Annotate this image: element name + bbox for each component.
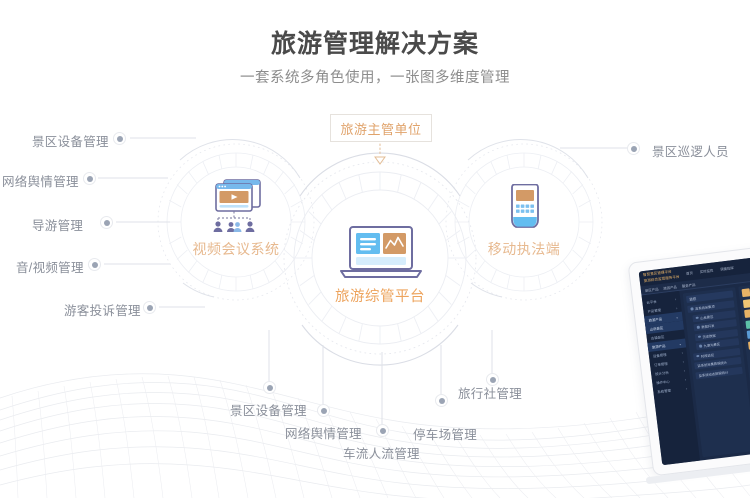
bottom-label-4: 旅行社管理 [458, 383, 522, 402]
bottom-dot-0[interactable] [263, 381, 276, 394]
bullet-icon [696, 316, 699, 319]
authority-box[interactable]: 旅游主管单位 [330, 114, 432, 142]
dashboard-filter-1[interactable]: 旅游产品 [663, 284, 677, 291]
left-dot-1[interactable] [83, 172, 96, 185]
chevron-icon: › [686, 386, 688, 390]
chevron-icon: ⌄ [679, 341, 682, 345]
left-dot-2[interactable] [100, 216, 113, 229]
bullet-icon [698, 335, 701, 338]
dashboard-tile-row-1 [743, 297, 750, 308]
tile-icon[interactable] [744, 309, 750, 318]
bottom-label-1: 网络舆情管理 [285, 423, 362, 442]
bottom-label-3: 停车场管理 [413, 424, 477, 443]
right-label-0: 景区巡逻人员 [652, 141, 729, 160]
left-label-1: 网络舆情管理 [2, 171, 79, 190]
bottom-label-2: 车流人流管理 [343, 443, 420, 462]
left-label-0: 景区设备管理 [32, 131, 109, 150]
bottom-dot-2[interactable] [376, 424, 389, 437]
handheld-device-icon [503, 184, 547, 236]
video-conference-icon [206, 178, 266, 234]
dashboard-tile-row-3 [745, 318, 750, 329]
dashboard-screen: 智慧景区管理平台 旅游综合监管服务平台 首页 实时监控 调度指挥 景区产品 旅游… [639, 256, 750, 465]
chevron-icon: › [685, 377, 687, 381]
solution-diagram-page: 旅游管理解决方案 一套系统多角色使用，一张图多维度管理 [0, 0, 750, 498]
left-dot-3[interactable] [88, 258, 101, 271]
tile-icon[interactable] [742, 288, 750, 297]
page-title: 旅游管理解决方案 [0, 24, 750, 60]
bullet-icon [696, 355, 699, 358]
dashboard-nav-0[interactable]: 首页 [686, 270, 693, 276]
tile-icon[interactable] [745, 320, 750, 329]
left-dot-4[interactable] [143, 301, 156, 314]
tile-icon[interactable] [743, 299, 750, 308]
tile-icon[interactable] [747, 330, 750, 339]
right-dot-0[interactable] [627, 142, 640, 155]
authority-arrow [375, 144, 385, 164]
left-label-2: 导游管理 [32, 215, 83, 234]
left-label-3: 音/视频管理 [16, 257, 84, 276]
chevron-icon: › [682, 359, 684, 363]
dashboard-nav-1[interactable]: 实时监控 [699, 268, 713, 275]
bottom-dot-4[interactable] [486, 373, 499, 386]
chevron-icon: › [684, 368, 686, 372]
bullet-icon [697, 326, 700, 329]
dashboard-body: 云平台› 产品管理› 旅游产品⌄ 山岳景区 古镇景区 [642, 280, 750, 466]
dashboard-nav-2[interactable]: 调度指挥 [720, 265, 734, 272]
chevron-icon: ⌄ [675, 315, 678, 319]
node-label-video-conference: 视频会议系统 [166, 239, 306, 259]
left-connectors [98, 138, 205, 307]
left-dot-0[interactable] [113, 132, 126, 145]
dashboard-tile-row-4 [747, 328, 750, 339]
dashboard-filter-0[interactable]: 景区产品 [645, 286, 659, 293]
chevron-icon: › [675, 297, 677, 301]
dashboard-filter-2[interactable]: 服务产品 [681, 281, 695, 288]
bullet-icon [699, 345, 702, 348]
bottom-dot-1[interactable] [317, 404, 330, 417]
node-label-mobile-enforcement: 移动执法端 [464, 239, 584, 259]
bottom-dot-3[interactable] [435, 394, 448, 407]
bullet-icon [690, 308, 693, 311]
chevron-icon: › [676, 306, 678, 310]
node-label-tourism-platform: 旅游综管平台 [320, 285, 440, 306]
dashboard-tile-row-0 [742, 286, 750, 297]
bottom-label-0: 景区设备管理 [230, 400, 307, 419]
dashboard-tile-row-2 [744, 307, 750, 318]
laptop-dashboard-icon [337, 225, 425, 283]
page-subtitle: 一套系统多角色使用，一张图多维度管理 [0, 66, 750, 87]
left-label-4: 游客投诉管理 [64, 300, 141, 319]
authority-label: 旅游主管单位 [340, 119, 421, 138]
chevron-icon: › [681, 350, 683, 354]
